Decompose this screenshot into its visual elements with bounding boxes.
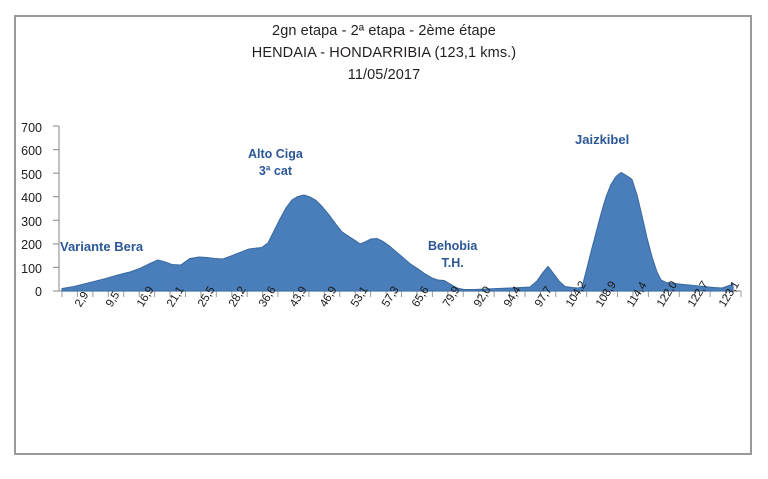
chart-title: 2gn etapa - 2ª etapa - 2ème étape HENDAI… [0,20,768,86]
title-line-1: 2gn etapa - 2ª etapa - 2ème étape [0,20,768,42]
title-line-2: HENDAIA - HONDARRIBIA (123,1 kms.) [0,42,768,64]
title-line-3: 11/05/2017 [0,64,768,86]
